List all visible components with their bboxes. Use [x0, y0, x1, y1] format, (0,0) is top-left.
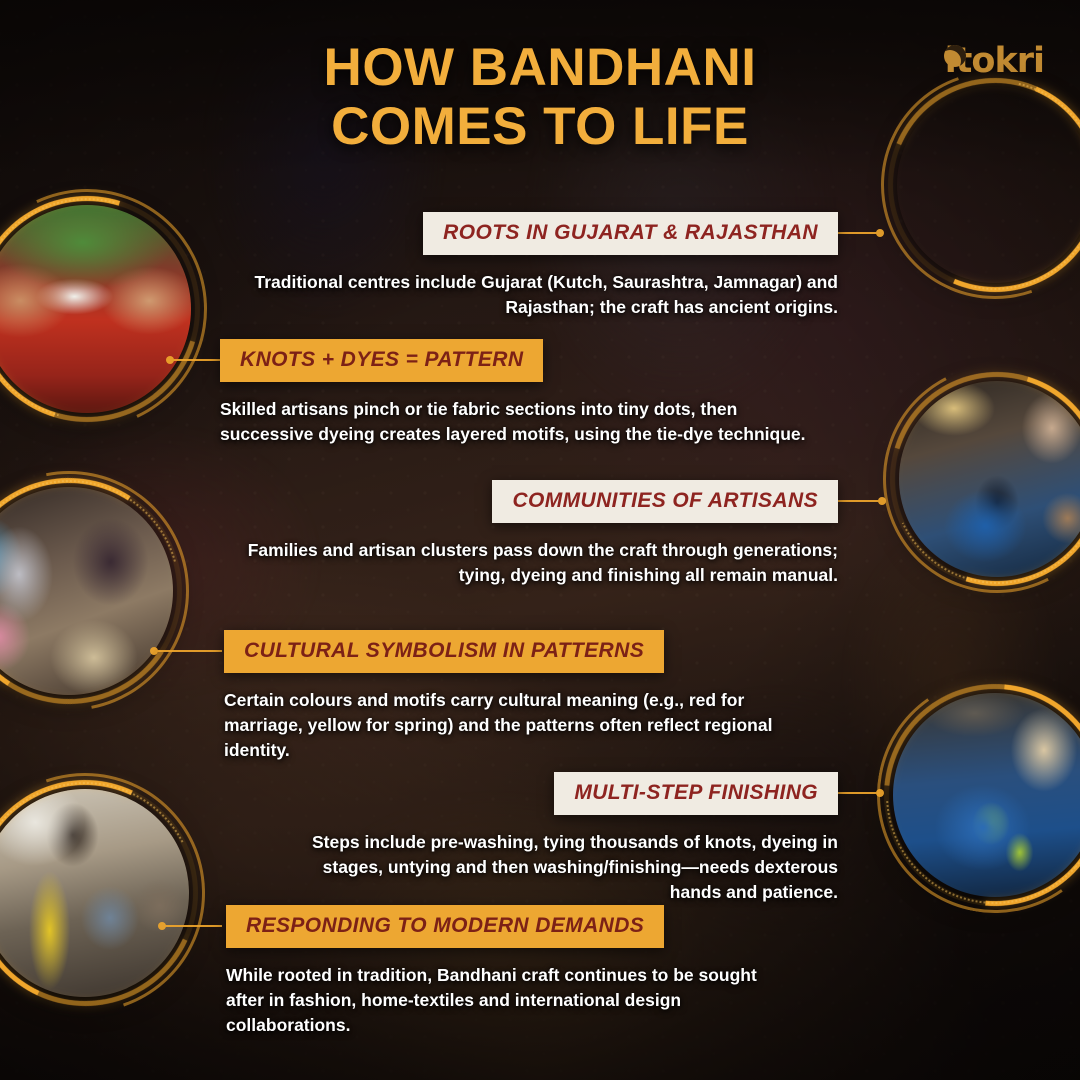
photo-woman-tying-cream-fabric	[0, 478, 182, 704]
section-heading-badge[interactable]: COMMUNITIES OF ARTISANS	[492, 480, 838, 523]
section-cultural-symbolism-in-patterns: CULTURAL SYMBOLISM IN PATTERNS Certain c…	[224, 630, 816, 763]
section-heading-badge[interactable]: CULTURAL SYMBOLISM IN PATTERNS	[224, 630, 664, 673]
section-heading-badge[interactable]: RESPONDING TO MODERN DEMANDS	[226, 905, 664, 948]
section-heading-badge[interactable]: MULTI-STEP FINISHING	[554, 772, 838, 815]
section-multi-step-finishing: MULTI-STEP FINISHING Steps include pre-w…	[300, 772, 838, 905]
section-body-text: Certain colours and motifs carry cultura…	[224, 688, 816, 763]
section-body-text: Skilled artisans pinch or tie fabric sec…	[220, 397, 820, 447]
section-body-text: While rooted in tradition, Bandhani craf…	[226, 963, 796, 1038]
connector-line-4	[152, 650, 222, 652]
infographic-poster: HOW BANDHANI COMES TO LIFE itokri	[0, 0, 1080, 1080]
section-knots-dyes-pattern: KNOTS + DYES = PATTERN Skilled artisans …	[220, 339, 820, 447]
section-heading-badge[interactable]: KNOTS + DYES = PATTERN	[220, 339, 543, 382]
photo-hands-tying-red-fabric	[0, 196, 200, 422]
connector-node	[150, 647, 158, 655]
connector-line-5	[836, 792, 882, 794]
connector-node	[876, 789, 884, 797]
section-body-text: Families and artisan clusters pass down …	[246, 538, 838, 588]
photo-dyer-lifting-yellow-fabric	[0, 780, 198, 1006]
title-line-1: HOW BANDHANI	[324, 38, 757, 97]
photo-indigo-vat-green-dye	[884, 684, 1080, 906]
connector-line-3	[836, 500, 884, 502]
section-body-text: Traditional centres include Gujarat (Kut…	[250, 270, 838, 320]
section-communities-of-artisans: COMMUNITIES OF ARTISANS Families and art…	[246, 480, 838, 588]
connector-line-1	[836, 232, 882, 234]
photo-two-women-tying-bandhani	[888, 78, 1080, 292]
logo-circle-icon	[944, 45, 966, 67]
section-roots-in-gujarat-rajasthan: ROOTS IN GUJARAT & RAJASTHAN Traditional…	[250, 212, 838, 320]
section-heading-badge[interactable]: ROOTS IN GUJARAT & RAJASTHAN	[423, 212, 838, 255]
connector-node	[878, 497, 886, 505]
section-responding-to-modern-demands: RESPONDING TO MODERN DEMANDS While roote…	[226, 905, 796, 1038]
connector-node	[876, 229, 884, 237]
section-body-text: Steps include pre-washing, tying thousan…	[300, 830, 838, 905]
photo-gloved-dyer-blue-tub	[890, 372, 1080, 586]
connector-line-6	[160, 925, 222, 927]
connector-node	[158, 922, 166, 930]
connector-line-2	[168, 359, 220, 361]
connector-node	[166, 356, 174, 364]
